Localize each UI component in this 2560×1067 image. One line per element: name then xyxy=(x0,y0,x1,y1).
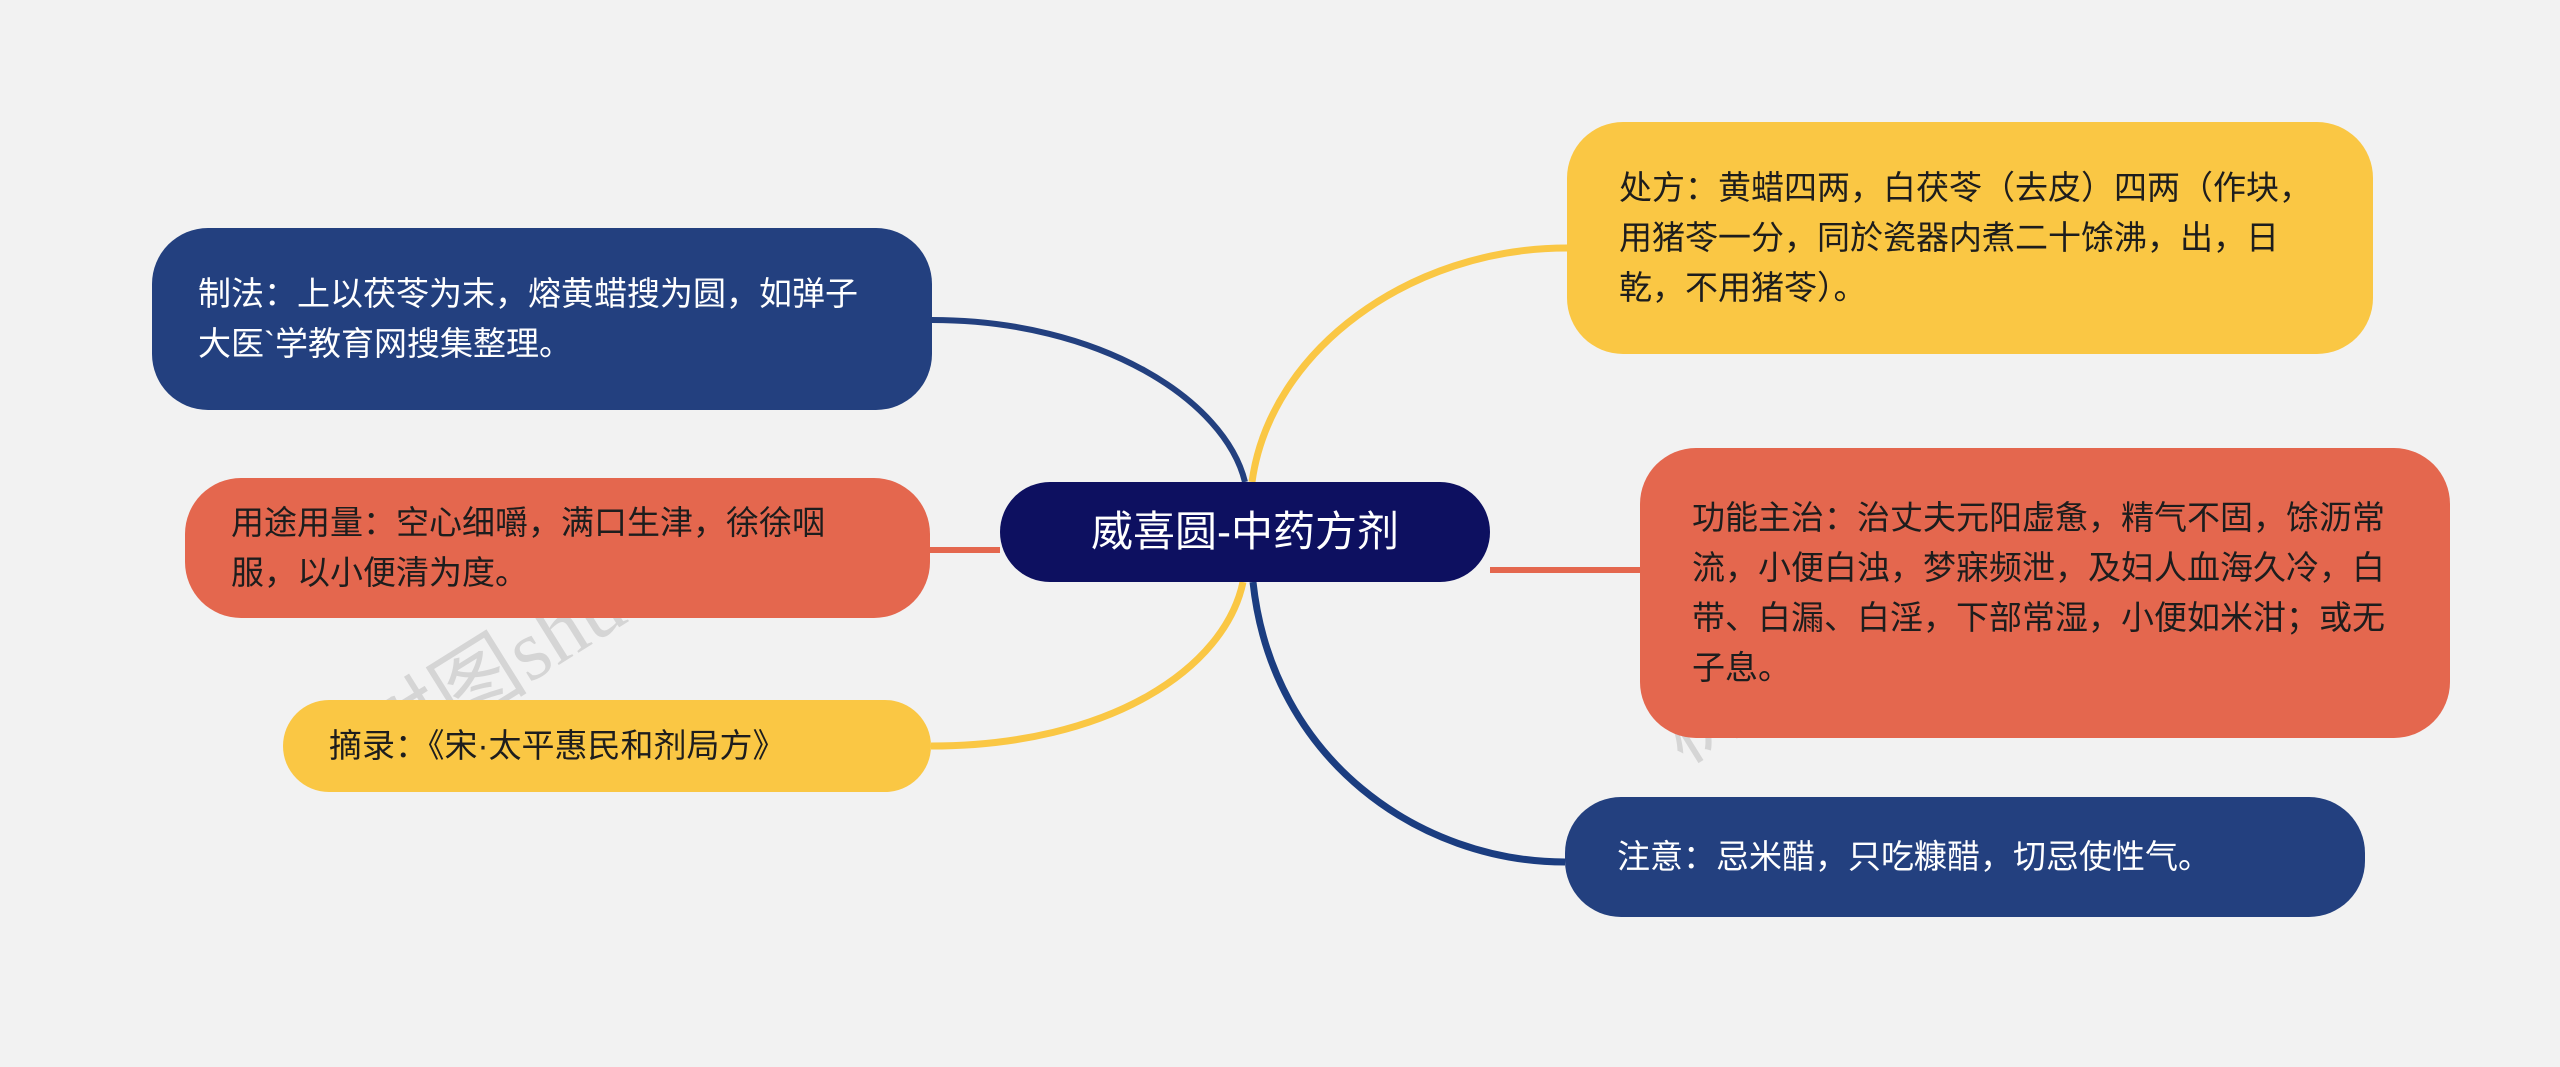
mindmap-node-gongneng[interactable]: 功能主治：治丈夫元阳虚惫，精气不固，馀沥常流，小便白浊，梦寐频泄，及妇人血海久冷… xyxy=(1640,448,2450,738)
connector-chufang xyxy=(1252,248,1567,482)
mindmap-node-yongtu[interactable]: 用途用量：空心细嚼，满口生津，徐徐咽服，以小便清为度。 xyxy=(185,478,930,618)
mindmap-node-zhifa[interactable]: 制法：上以茯苓为末，熔黄蜡搜为圆，如弹子大医`学教育网搜集整理。 xyxy=(152,228,932,410)
node-label-zhuyi: 注意：忌米醋，只吃糠醋，切忌使性气。 xyxy=(1617,832,2313,882)
node-label-yongtu: 用途用量：空心细嚼，满口生津，徐徐咽服，以小便清为度。 xyxy=(231,498,884,598)
mindmap-node-center[interactable]: 威喜圆-中药方剂 xyxy=(1000,482,1490,582)
connector-zhifa xyxy=(932,320,1245,482)
node-label-gongneng: 功能主治：治丈夫元阳虚惫，精气不固，馀沥常流，小便白浊，梦寐频泄，及妇人血海久冷… xyxy=(1692,493,2398,694)
connector-zhailu xyxy=(931,582,1243,746)
node-label-zhailu: 摘录：《宋·太平惠民和剂局方》 xyxy=(329,721,885,771)
mindmap-canvas: 树图shutu.cn 树图shutu.cn 制法：上以茯苓为末，熔黄蜡搜为圆，如… xyxy=(0,0,2560,1067)
mindmap-node-zhuyi[interactable]: 注意：忌米醋，只吃糠醋，切忌使性气。 xyxy=(1565,797,2365,917)
connector-zhuyi xyxy=(1253,582,1565,862)
node-label-zhifa: 制法：上以茯苓为末，熔黄蜡搜为圆，如弹子大医`学教育网搜集整理。 xyxy=(198,269,886,369)
mindmap-node-chufang[interactable]: 处方：黄蜡四两，白茯苓（去皮）四两（作块，用猪苓一分，同於瓷器内煮二十馀沸，出，… xyxy=(1567,122,2373,354)
mindmap-node-zhailu[interactable]: 摘录：《宋·太平惠民和剂局方》 xyxy=(283,700,931,792)
node-label-chufang: 处方：黄蜡四两，白茯苓（去皮）四两（作块，用猪苓一分，同於瓷器内煮二十馀沸，出，… xyxy=(1619,163,2321,313)
node-label-center: 威喜圆-中药方剂 xyxy=(1000,509,1490,555)
